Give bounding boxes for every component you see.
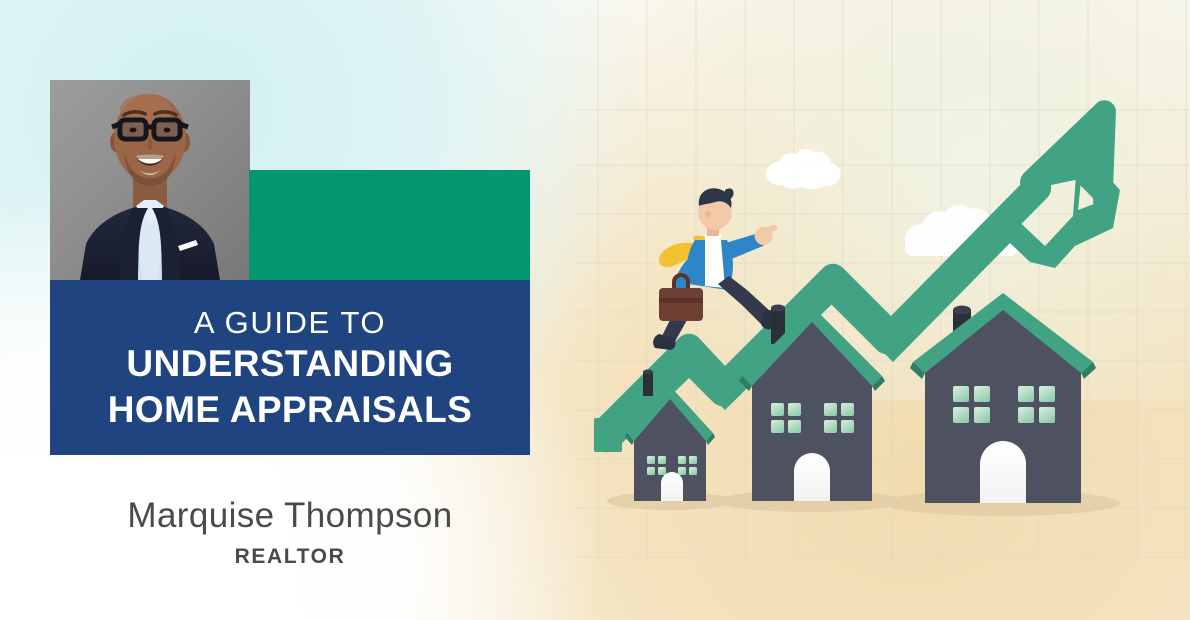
title-block: A GUIDE TO UNDERSTANDING HOME APPRAISALS [50, 280, 530, 455]
house-small-door [661, 472, 683, 501]
title-line-1: A GUIDE TO [194, 306, 386, 341]
green-accent-bar [249, 170, 530, 280]
agent-name: Marquise Thompson [50, 496, 530, 536]
cloud-small-icon [766, 149, 840, 189]
title-line-2: UNDERSTANDING [126, 341, 453, 387]
poster-canvas: A GUIDE TO UNDERSTANDING HOME APPRAISALS… [0, 0, 1190, 620]
agent-headshot-photo [50, 80, 250, 280]
house-medium-door [794, 453, 830, 501]
illustration-area [575, 0, 1190, 620]
house-large [910, 293, 1096, 503]
businessman-running-icon [653, 188, 777, 350]
house-large-door [980, 441, 1026, 503]
agent-role: REALTOR [50, 545, 530, 569]
title-line-3: HOME APPRAISALS [108, 387, 472, 433]
